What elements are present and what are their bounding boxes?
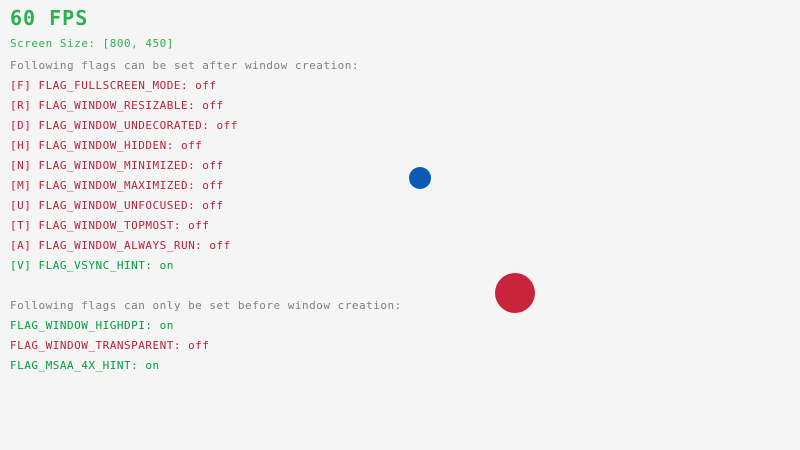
flag-row-window-maximized[interactable]: [M] FLAG_WINDOW_MAXIMIZED: off bbox=[10, 180, 224, 191]
section-header-before-creation: Following flags can only be set before w… bbox=[10, 300, 402, 311]
blue-ball-shape bbox=[409, 167, 431, 189]
flag-row-window-highdpi: FLAG_WINDOW_HIGHDPI: on bbox=[10, 320, 174, 331]
fps-counter: 60 FPS bbox=[10, 8, 88, 28]
flag-row-window-minimized[interactable]: [N] FLAG_WINDOW_MINIMIZED: off bbox=[10, 160, 224, 171]
screen-size-label: Screen Size: [800, 450] bbox=[10, 38, 174, 49]
flag-row-window-undecorated[interactable]: [D] FLAG_WINDOW_UNDECORATED: off bbox=[10, 120, 238, 131]
flag-row-window-resizable[interactable]: [R] FLAG_WINDOW_RESIZABLE: off bbox=[10, 100, 224, 111]
section-header-after-creation: Following flags can be set after window … bbox=[10, 60, 359, 71]
red-ball-shape bbox=[495, 273, 535, 313]
flag-row-fullscreen-mode[interactable]: [F] FLAG_FULLSCREEN_MODE: off bbox=[10, 80, 217, 91]
app-window: 60 FPS Screen Size: [800, 450] Following… bbox=[0, 0, 800, 450]
flag-row-msaa-4x-hint: FLAG_MSAA_4X_HINT: on bbox=[10, 360, 160, 371]
flag-row-window-hidden[interactable]: [H] FLAG_WINDOW_HIDDEN: off bbox=[10, 140, 202, 151]
flag-row-window-topmost[interactable]: [T] FLAG_WINDOW_TOPMOST: off bbox=[10, 220, 209, 231]
flag-row-window-transparent: FLAG_WINDOW_TRANSPARENT: off bbox=[10, 340, 209, 351]
flag-row-window-unfocused[interactable]: [U] FLAG_WINDOW_UNFOCUSED: off bbox=[10, 200, 224, 211]
flag-row-vsync-hint[interactable]: [V] FLAG_VSYNC_HINT: on bbox=[10, 260, 174, 271]
flag-row-window-always-run[interactable]: [A] FLAG_WINDOW_ALWAYS_RUN: off bbox=[10, 240, 231, 251]
